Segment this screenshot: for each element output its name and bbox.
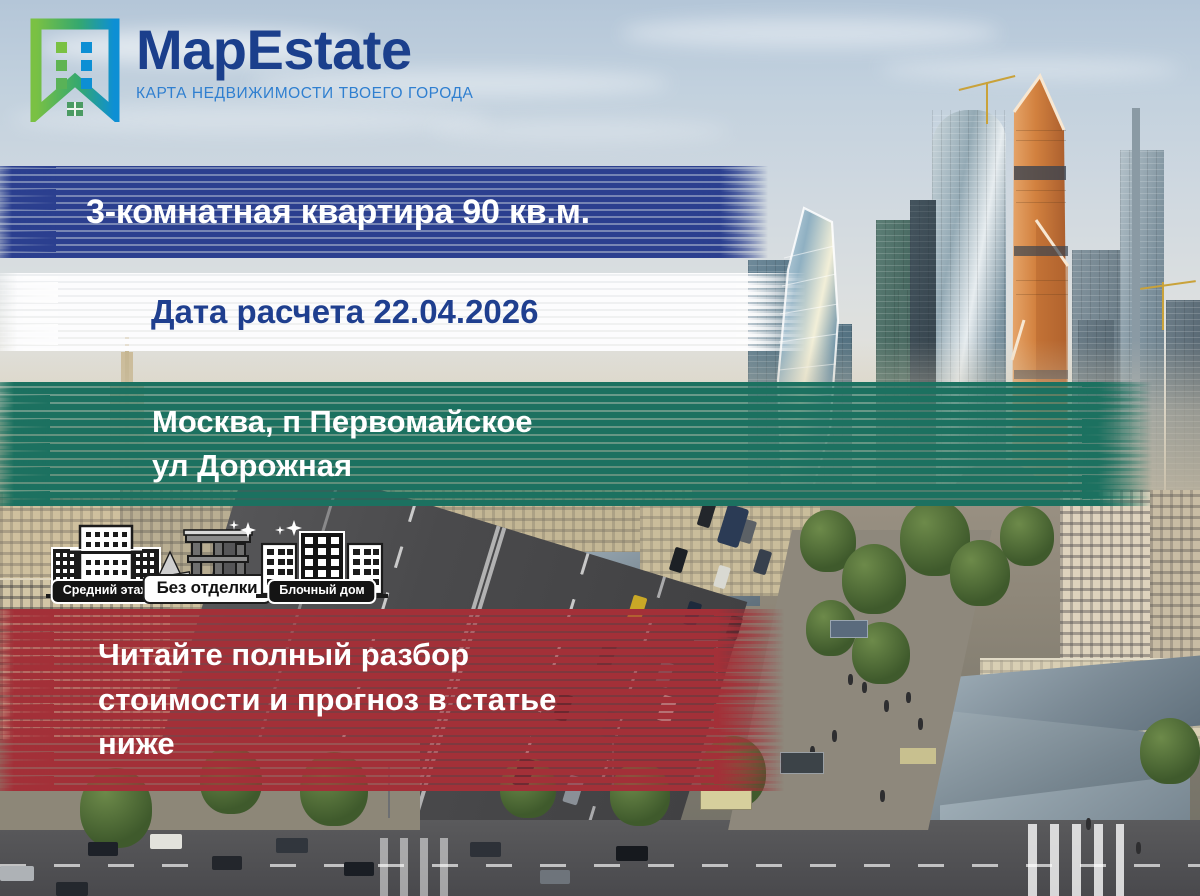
pedestrian [832,730,837,742]
location-address: Москва, п Первомайское ул Дорожная [152,400,533,488]
feature-badges: Средний этаж [44,512,394,604]
car [276,838,308,853]
brush-edge-left [0,382,50,506]
brush-edge-left [0,166,56,258]
property-title: 3-комнатная квартира 90 кв.м. [86,193,590,232]
brand-tagline: КАРТА НЕДВИЖИМОСТИ ТВОЕГО ГОРОДА [136,85,473,103]
property-banner: 3-комнатная квартира 90 кв.м. [0,166,768,258]
poster: MapEstate КАРТА НЕДВИЖИМОСТИ ТВОЕГО ГОРО… [0,0,1200,896]
pedestrian [848,674,853,685]
calculation-date: Дата расчета 22.04.2026 [151,293,538,331]
tree [1140,718,1200,784]
brand-name: MapEstate [136,22,473,78]
cloud [620,18,1000,48]
brush-edge-right [698,166,768,258]
brush-edge-left [0,273,58,351]
billboard [830,620,868,638]
cross-street [0,820,1200,896]
billboard [700,790,752,810]
car [616,846,648,861]
pedestrian [1136,842,1141,854]
pedestrian [1086,818,1091,830]
feature-label: Без отделки [143,574,272,604]
bookmark-building-icon [26,18,124,122]
car [56,882,88,896]
car [212,856,242,870]
pedestrian [880,790,885,802]
brand-logo[interactable]: MapEstate КАРТА НЕДВИЖИМОСТИ ТВОЕГО ГОРО… [26,18,473,122]
crosswalk [1028,824,1124,896]
crane-mast [986,82,988,124]
car [88,842,118,856]
brush-edge-right [1082,382,1152,506]
shop-sign [900,748,936,764]
location-banner: Москва, п Первомайское ул Дорожная [0,382,1152,506]
cloud [430,120,730,142]
car [150,834,182,849]
cta-banner: Читайте полный разбор стоимости и прогно… [0,609,784,791]
brush-edge-right [714,609,784,791]
cta-text: Читайте полный разбор стоимости и прогно… [98,633,556,767]
car [0,866,34,881]
crosswalk [380,838,452,896]
lane-markings [0,864,1200,867]
pedestrian [884,700,889,712]
bus-shelter [780,752,824,774]
tree [1000,506,1054,566]
feature-label: Блочный дом [267,579,376,604]
car [470,842,501,857]
car [344,862,374,876]
pedestrian [918,718,923,730]
tree [950,540,1010,606]
car [540,870,570,884]
feature-bare-shell: Без отделки [148,518,266,604]
pedestrian [906,692,911,703]
date-banner: Дата расчета 22.04.2026 [0,273,806,351]
crane-mast [1162,282,1164,330]
tree [842,544,906,614]
brush-edge-left [0,609,54,791]
brush-edge-right [736,273,806,351]
pedestrian [862,682,867,693]
feature-block-house: Блочный дом [256,518,388,604]
brand-wordmark: MapEstate КАРТА НЕДВИЖИМОСТИ ТВОЕГО ГОРО… [136,22,473,103]
